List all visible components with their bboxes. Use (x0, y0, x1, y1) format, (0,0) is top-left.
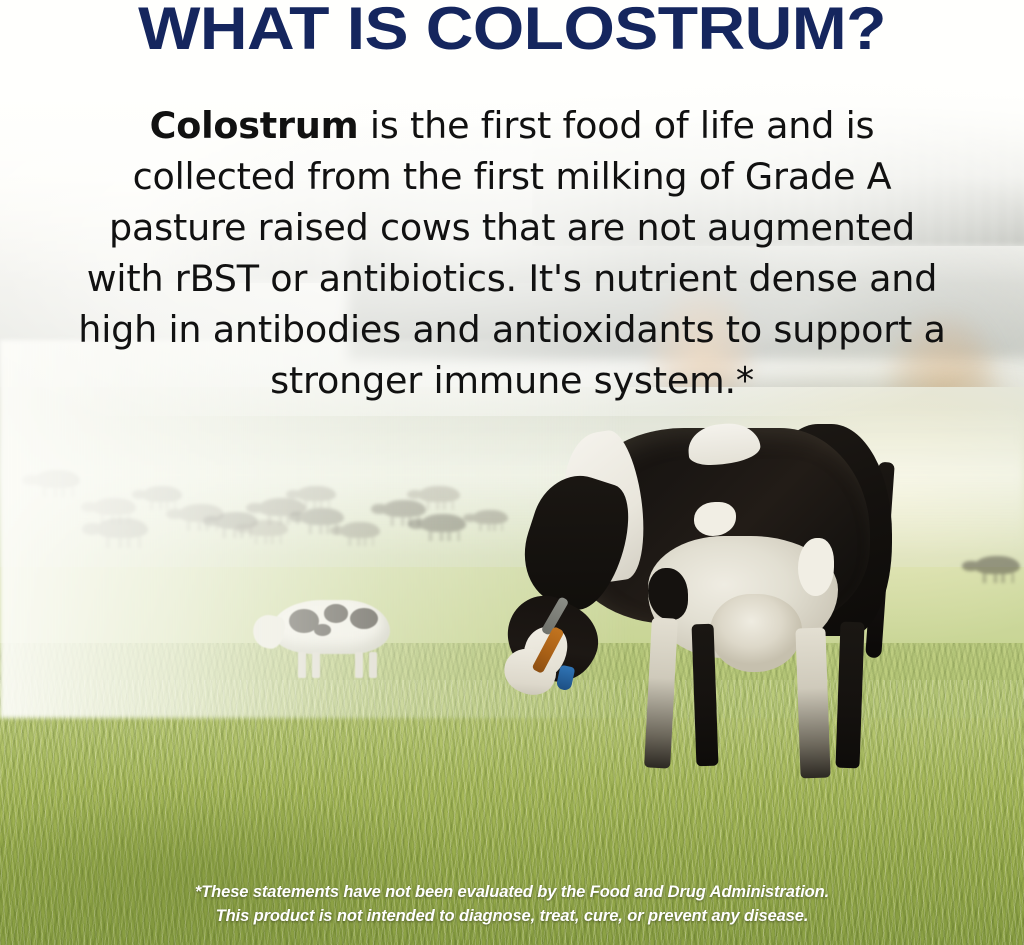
body-paragraph: Colostrum is the first food of life and … (72, 100, 952, 406)
foreground-holstein-cow (498, 418, 928, 790)
cow-white-spot (798, 538, 834, 596)
disclaimer-line-2: This product is not intended to diagnose… (0, 904, 1024, 928)
cow-hind-leg (795, 628, 830, 779)
page-title: WHAT IS COLOSTRUM? (0, 0, 1024, 63)
cow-blue-tag (556, 665, 576, 692)
distant-cow (974, 556, 1020, 574)
cow-front-leg (644, 617, 678, 768)
cow-hind-leg-back (835, 622, 864, 769)
promo-graphic: WHAT IS COLOSTRUM? Colostrum is the firs… (0, 0, 1024, 945)
fda-disclaimer: *These statements have not been evaluate… (0, 880, 1024, 928)
cow-udder (710, 594, 802, 672)
body-text: is the first food of life and is collect… (78, 104, 945, 402)
lead-bold-word: Colostrum (150, 104, 359, 147)
disclaimer-line-1: *These statements have not been evaluate… (0, 880, 1024, 904)
